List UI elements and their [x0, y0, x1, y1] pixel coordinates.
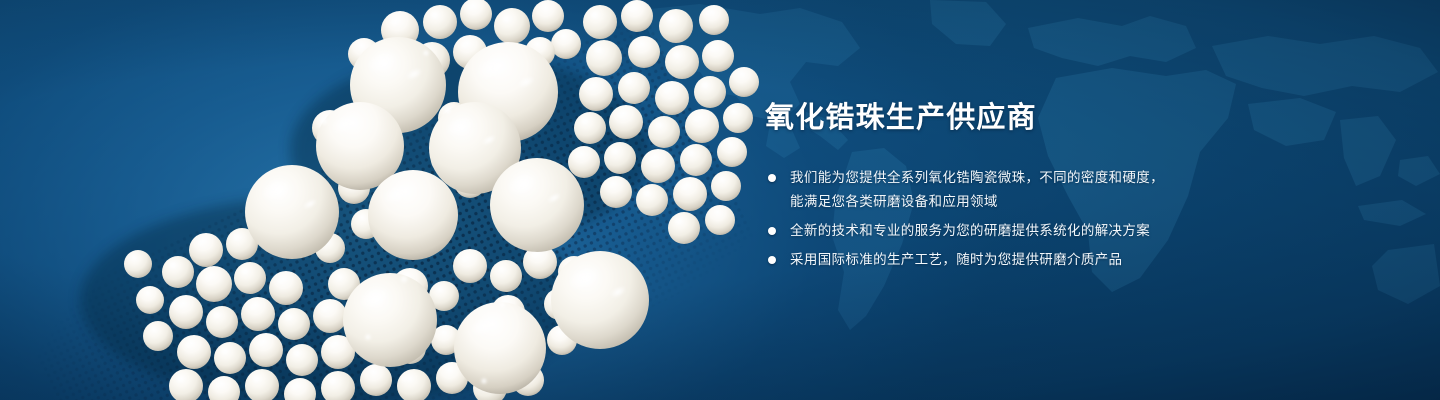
page-title: 氧化锆珠生产供应商	[765, 98, 1325, 138]
feature-text-line: 我们能为您提供全系列氧化锆陶瓷微珠，不同的密度和硬度，	[790, 166, 1325, 190]
list-item: 采用国际标准的生产工艺，随时为您提供研磨介质产品	[765, 248, 1325, 272]
list-item: 我们能为您提供全系列氧化锆陶瓷微珠，不同的密度和硬度， 能满足您各类研磨设备和应…	[765, 166, 1325, 214]
bullet-dot-icon	[768, 256, 776, 264]
feature-text-line: 全新的技术和专业的服务为您的研磨提供系统化的解决方案	[790, 219, 1325, 243]
banner-copy: 氧化锆珠生产供应商 我们能为您提供全系列氧化锆陶瓷微珠，不同的密度和硬度， 能满…	[765, 98, 1325, 272]
feature-list: 我们能为您提供全系列氧化锆陶瓷微珠，不同的密度和硬度， 能满足您各类研磨设备和应…	[765, 166, 1325, 272]
list-item: 全新的技术和专业的服务为您的研磨提供系统化的解决方案	[765, 219, 1325, 243]
feature-text-line: 能满足您各类研磨设备和应用领域	[790, 190, 1325, 214]
hero-banner: 氧化锆珠生产供应商 我们能为您提供全系列氧化锆陶瓷微珠，不同的密度和硬度， 能满…	[0, 0, 1440, 400]
bullet-dot-icon	[768, 174, 776, 182]
bullet-dot-icon	[768, 227, 776, 235]
feature-text-line: 采用国际标准的生产工艺，随时为您提供研磨介质产品	[790, 248, 1325, 272]
